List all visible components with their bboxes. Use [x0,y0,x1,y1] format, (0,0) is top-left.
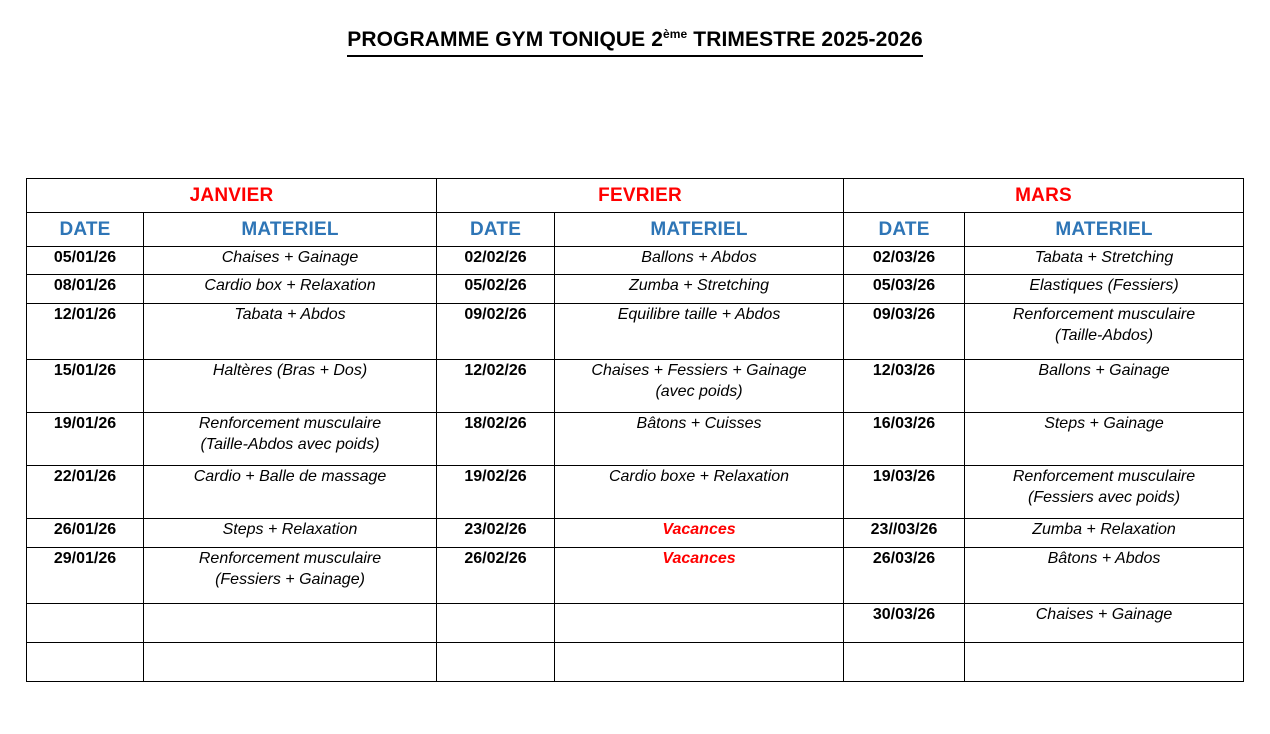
table-row: 12/01/26 Tabata + Abdos 09/02/26 Equilib… [27,304,1244,360]
column-header-row: DATE MATERIEL DATE MATERIEL DATE MATERIE… [27,213,1244,247]
materiel-line-1: Renforcement musculaire [1013,306,1195,323]
cell-date-mars: 12/03/26 [844,360,965,413]
cell-date-fevrier: 02/02/26 [437,247,555,275]
table-row: 29/01/26 Renforcement musculaire(Fessier… [27,548,1244,604]
materiel-line-1: Ballons + Abdos [641,249,756,266]
cell-materiel-mars: Renforcement musculaire(Fessiers avec po… [965,466,1244,519]
cell-date-mars: 19/03/26 [844,466,965,519]
column-header-materiel-janvier: MATERIEL [144,213,437,247]
page-title-prefix: PROGRAMME GYM TONIQUE 2 [347,28,663,51]
month-header-row: JANVIER FEVRIER MARS [27,179,1244,213]
materiel-line-1: Equilibre taille + Abdos [618,306,781,323]
cell-date-fevrier [437,643,555,682]
cell-materiel-mars: Zumba + Relaxation [965,519,1244,548]
cell-materiel-fevrier: Zumba + Stretching [555,275,844,304]
cell-materiel-janvier: Cardio + Balle de massage [144,466,437,519]
cell-date-janvier [27,604,144,643]
materiel-line-2: (Fessiers + Gainage) [144,569,436,590]
table-row: 08/01/26 Cardio box + Relaxation 05/02/2… [27,275,1244,304]
cell-materiel-mars: Bâtons + Abdos [965,548,1244,604]
cell-date-mars: 02/03/26 [844,247,965,275]
cell-materiel-fevrier: Bâtons + Cuisses [555,413,844,466]
materiel-line-1: Zumba + Stretching [629,277,769,294]
cell-date-janvier: 15/01/26 [27,360,144,413]
cell-materiel-fevrier [555,643,844,682]
cell-date-mars: 09/03/26 [844,304,965,360]
page-title-suffix: TRIMESTRE 2025-2026 [687,28,922,51]
materiel-line-2: (avec poids) [555,381,843,402]
cell-materiel-mars [965,643,1244,682]
materiel-line-1: Bâtons + Abdos [1048,550,1161,567]
cell-materiel-fevrier [555,604,844,643]
column-header-materiel-fevrier: MATERIEL [555,213,844,247]
cell-materiel-mars: Elastiques (Fessiers) [965,275,1244,304]
table-row: 30/03/26 Chaises + Gainage [27,604,1244,643]
column-header-date-janvier: DATE [27,213,144,247]
document-page: PROGRAMME GYM TONIQUE 2ème TRIMESTRE 202… [0,0,1270,734]
materiel-line-1: Cardio box + Relaxation [204,277,375,294]
month-header-fevrier: FEVRIER [437,179,844,213]
month-header-mars: MARS [844,179,1244,213]
materiel-line-1: Ballons + Gainage [1038,362,1169,379]
cell-materiel-fevrier: Chaises + Fessiers + Gainage(avec poids) [555,360,844,413]
materiel-line-1: Vacances [662,550,735,567]
cell-materiel-janvier: Renforcement musculaire(Fessiers + Gaina… [144,548,437,604]
cell-materiel-fevrier: Cardio boxe + Relaxation [555,466,844,519]
column-header-materiel-mars: MATERIEL [965,213,1244,247]
cell-materiel-fevrier-vacances: Vacances [555,548,844,604]
cell-date-fevrier: 26/02/26 [437,548,555,604]
materiel-line-1: Renforcement musculaire [199,550,381,567]
materiel-line-1: Vacances [662,521,735,538]
cell-materiel-fevrier-vacances: Vacances [555,519,844,548]
cell-materiel-mars: Steps + Gainage [965,413,1244,466]
cell-materiel-janvier: Renforcement musculaire(Taille-Abdos ave… [144,413,437,466]
cell-date-fevrier [437,604,555,643]
table-row: 22/01/26 Cardio + Balle de massage 19/02… [27,466,1244,519]
cell-date-mars: 23//03/26 [844,519,965,548]
materiel-line-1: Steps + Relaxation [223,521,358,538]
cell-date-janvier: 29/01/26 [27,548,144,604]
page-title: PROGRAMME GYM TONIQUE 2ème TRIMESTRE 202… [347,28,923,57]
materiel-line-1: Chaises + Fessiers + Gainage [591,362,806,379]
cell-materiel-janvier: Haltères (Bras + Dos) [144,360,437,413]
cell-date-mars: 16/03/26 [844,413,965,466]
column-header-date-mars: DATE [844,213,965,247]
materiel-line-1: Bâtons + Cuisses [637,415,762,432]
cell-date-mars: 30/03/26 [844,604,965,643]
cell-materiel-janvier: Tabata + Abdos [144,304,437,360]
cell-materiel-janvier: Steps + Relaxation [144,519,437,548]
page-title-superscript: ème [663,27,687,41]
schedule-table: JANVIER FEVRIER MARS DATE MATERIEL DATE … [26,178,1244,682]
materiel-line-1: Chaises + Gainage [1036,606,1173,623]
cell-date-mars: 05/03/26 [844,275,965,304]
column-header-date-fevrier: DATE [437,213,555,247]
cell-date-janvier: 19/01/26 [27,413,144,466]
materiel-line-2: (Taille-Abdos avec poids) [144,434,436,455]
page-title-container: PROGRAMME GYM TONIQUE 2ème TRIMESTRE 202… [0,28,1270,57]
cell-materiel-fevrier: Equilibre taille + Abdos [555,304,844,360]
cell-date-fevrier: 19/02/26 [437,466,555,519]
materiel-line-1: Chaises + Gainage [222,249,359,266]
materiel-line-1: Zumba + Relaxation [1032,521,1176,538]
materiel-line-1: Tabata + Abdos [234,306,345,323]
materiel-line-1: Renforcement musculaire [199,415,381,432]
cell-date-fevrier: 09/02/26 [437,304,555,360]
cell-materiel-mars: Chaises + Gainage [965,604,1244,643]
cell-materiel-janvier [144,643,437,682]
materiel-line-1: Cardio boxe + Relaxation [609,468,789,485]
month-header-janvier: JANVIER [27,179,437,213]
table-row [27,643,1244,682]
materiel-line-1: Elastiques (Fessiers) [1029,277,1178,294]
cell-date-fevrier: 12/02/26 [437,360,555,413]
materiel-line-2: (Taille-Abdos) [965,325,1243,346]
cell-materiel-fevrier: Ballons + Abdos [555,247,844,275]
materiel-line-1: Cardio + Balle de massage [194,468,387,485]
cell-date-fevrier: 18/02/26 [437,413,555,466]
cell-date-mars [844,643,965,682]
materiel-line-2: (Fessiers avec poids) [965,487,1243,508]
cell-date-janvier: 05/01/26 [27,247,144,275]
cell-materiel-mars: Ballons + Gainage [965,360,1244,413]
cell-date-fevrier: 23/02/26 [437,519,555,548]
materiel-line-1: Tabata + Stretching [1035,249,1174,266]
table-row: 19/01/26 Renforcement musculaire(Taille-… [27,413,1244,466]
cell-date-fevrier: 05/02/26 [437,275,555,304]
materiel-line-1: Renforcement musculaire [1013,468,1195,485]
table-row: 05/01/26 Chaises + Gainage 02/02/26 Ball… [27,247,1244,275]
cell-date-mars: 26/03/26 [844,548,965,604]
table-row: 15/01/26 Haltères (Bras + Dos) 12/02/26 … [27,360,1244,413]
cell-materiel-mars: Renforcement musculaire(Taille-Abdos) [965,304,1244,360]
cell-materiel-janvier [144,604,437,643]
cell-materiel-janvier: Chaises + Gainage [144,247,437,275]
cell-date-janvier: 26/01/26 [27,519,144,548]
materiel-line-1: Haltères (Bras + Dos) [213,362,367,379]
cell-materiel-mars: Tabata + Stretching [965,247,1244,275]
cell-date-janvier [27,643,144,682]
materiel-line-1: Steps + Gainage [1044,415,1164,432]
cell-date-janvier: 22/01/26 [27,466,144,519]
table-row: 26/01/26 Steps + Relaxation 23/02/26 Vac… [27,519,1244,548]
cell-materiel-janvier: Cardio box + Relaxation [144,275,437,304]
cell-date-janvier: 08/01/26 [27,275,144,304]
cell-date-janvier: 12/01/26 [27,304,144,360]
schedule-table-container: JANVIER FEVRIER MARS DATE MATERIEL DATE … [26,178,1243,682]
